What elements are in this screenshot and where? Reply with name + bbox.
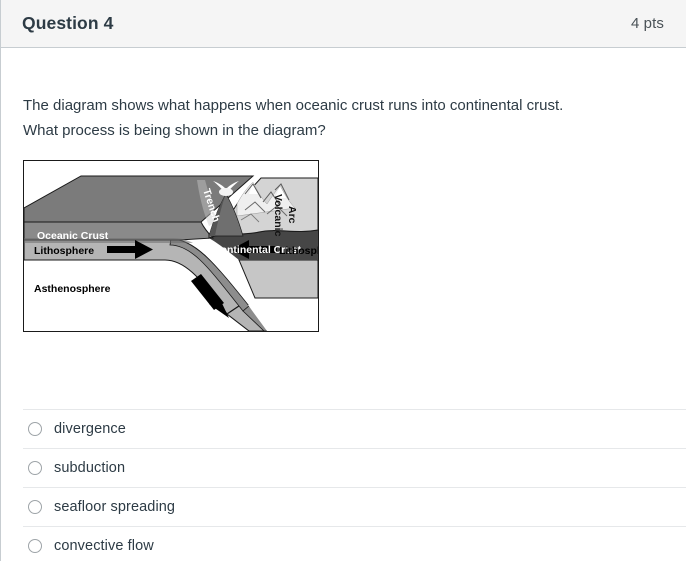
page-title: Question 4 bbox=[22, 13, 113, 34]
label-asthenosphere: Asthenosphere bbox=[34, 283, 111, 295]
answer-option-label: convective flow bbox=[54, 538, 154, 554]
radio-icon[interactable] bbox=[28, 461, 42, 475]
points-badge: 4 pts bbox=[631, 15, 664, 32]
answer-options-list: divergence subduction seafloor spreading… bbox=[23, 409, 686, 565]
answer-option-subduction[interactable]: subduction bbox=[23, 448, 686, 487]
answer-option-seafloor-spreading[interactable]: seafloor spreading bbox=[23, 487, 686, 526]
question-prompt-line-1: The diagram shows what happens when ocea… bbox=[23, 93, 664, 118]
label-lithosphere-left: Lithosphere bbox=[34, 245, 94, 257]
answer-option-label: seafloor spreading bbox=[54, 499, 175, 515]
radio-icon[interactable] bbox=[28, 500, 42, 514]
radio-icon[interactable] bbox=[28, 422, 42, 436]
question-prompt-line-2: What process is being shown in the diagr… bbox=[23, 118, 664, 143]
label-lithosphere-right: Lithosphere bbox=[279, 245, 319, 257]
label-volcanic-arc-2: Arc bbox=[286, 206, 298, 224]
radio-icon[interactable] bbox=[28, 539, 42, 553]
question-card: Question 4 4 pts The diagram shows what … bbox=[0, 0, 686, 561]
answer-option-divergence[interactable]: divergence bbox=[23, 409, 686, 448]
question-header: Question 4 4 pts bbox=[1, 0, 686, 48]
answer-option-label: divergence bbox=[54, 421, 126, 437]
answer-option-convective-flow[interactable]: convective flow bbox=[23, 526, 686, 565]
label-volcanic-arc-1: Volcanic bbox=[272, 194, 284, 237]
answer-option-label: subduction bbox=[54, 460, 125, 476]
subduction-zone-diagram: Oceanic Crust Continental Crust Trench V… bbox=[23, 160, 319, 332]
question-prompt: The diagram shows what happens when ocea… bbox=[23, 93, 664, 143]
question-body: The diagram shows what happens when ocea… bbox=[1, 93, 686, 332]
label-oceanic-crust: Oceanic Crust bbox=[37, 230, 109, 242]
